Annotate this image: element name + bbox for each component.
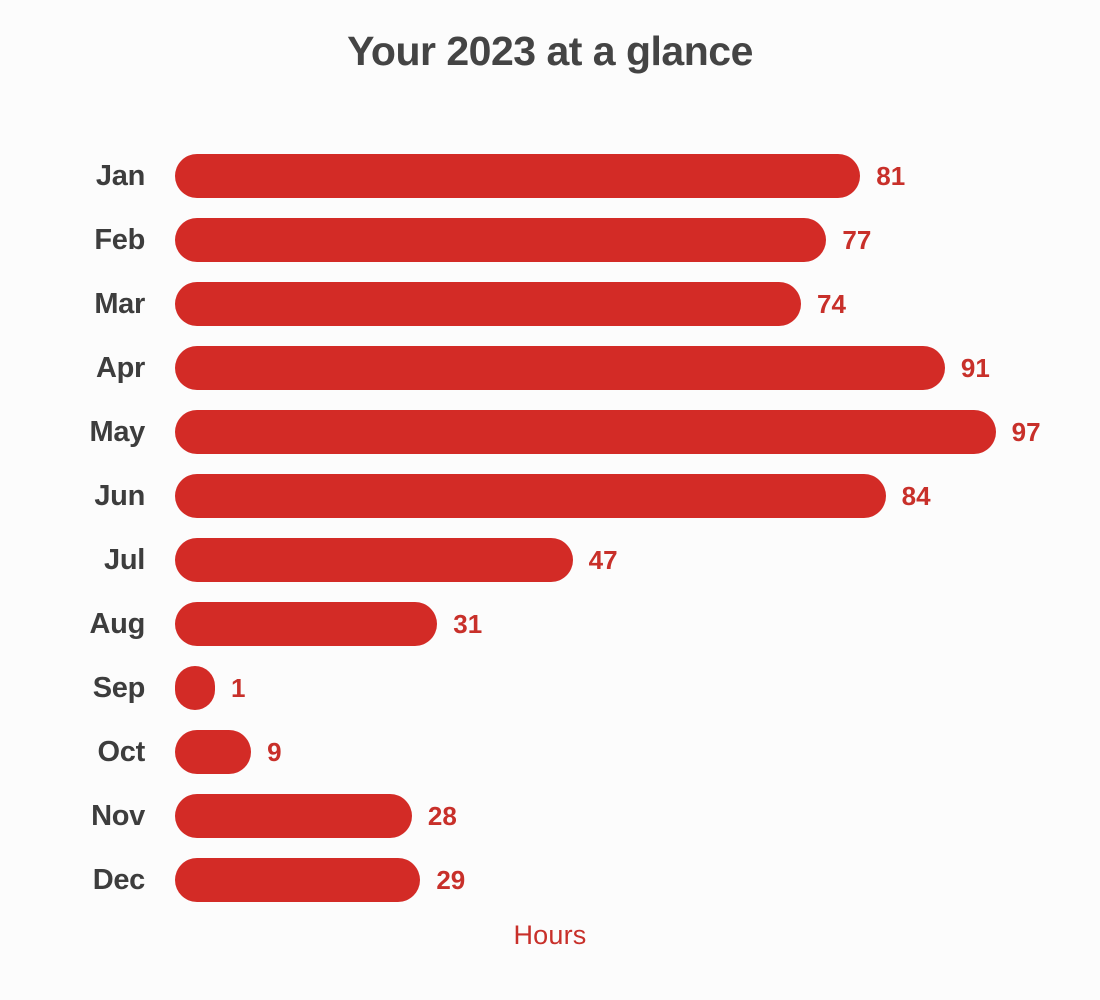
bar-category-label: May (0, 410, 145, 454)
bar-category-label: Mar (0, 282, 145, 326)
bar-value-label: 31 (453, 602, 482, 646)
bar-track: 91 (175, 346, 990, 390)
bar-value-label: 74 (817, 282, 846, 326)
bar[interactable] (175, 346, 945, 390)
bar-value-label: 84 (902, 474, 931, 518)
bar-track: 1 (175, 666, 245, 710)
bar-track: 47 (175, 538, 618, 582)
bar-row: Nov28 (0, 794, 1100, 838)
bar-category-label: Feb (0, 218, 145, 262)
bar-row: Jun84 (0, 474, 1100, 518)
bar-row: Jul47 (0, 538, 1100, 582)
bar-track: 97 (175, 410, 1041, 454)
bar-row: Apr91 (0, 346, 1100, 390)
bar-value-label: 9 (267, 730, 281, 774)
bar-value-label: 81 (876, 154, 905, 198)
bar[interactable] (175, 218, 826, 262)
bar-category-label: Dec (0, 858, 145, 902)
bar-track: 77 (175, 218, 871, 262)
bar[interactable] (175, 474, 886, 518)
bar[interactable] (175, 410, 996, 454)
bar[interactable] (175, 602, 437, 646)
bar[interactable] (175, 858, 420, 902)
bar-track: 28 (175, 794, 457, 838)
bar-chart-plot-area: Jan81Feb77Mar74Apr91May97Jun84Jul47Aug31… (0, 140, 1100, 910)
bar-track: 31 (175, 602, 482, 646)
x-axis-label: Hours (0, 920, 1100, 951)
bar-row: May97 (0, 410, 1100, 454)
bar-row: Aug31 (0, 602, 1100, 646)
bar-row: Feb77 (0, 218, 1100, 262)
bar-track: 81 (175, 154, 905, 198)
bar-value-label: 91 (961, 346, 990, 390)
bar[interactable] (175, 538, 573, 582)
bar[interactable] (175, 666, 215, 710)
bar-category-label: Aug (0, 602, 145, 646)
bar-row: Dec29 (0, 858, 1100, 902)
bar[interactable] (175, 794, 412, 838)
bar-row: Oct9 (0, 730, 1100, 774)
bar-value-label: 29 (436, 858, 465, 902)
bar-value-label: 97 (1012, 410, 1041, 454)
bar-row: Jan81 (0, 154, 1100, 198)
bar[interactable] (175, 282, 801, 326)
bar-category-label: Jul (0, 538, 145, 582)
bar-row: Mar74 (0, 282, 1100, 326)
page-title: Your 2023 at a glance (0, 28, 1100, 75)
bar-category-label: Nov (0, 794, 145, 838)
bar-category-label: Apr (0, 346, 145, 390)
bar-value-label: 77 (842, 218, 871, 262)
bar-track: 74 (175, 282, 846, 326)
bar-row: Sep1 (0, 666, 1100, 710)
bar-track: 29 (175, 858, 465, 902)
bar-category-label: Oct (0, 730, 145, 774)
bar-track: 9 (175, 730, 282, 774)
chart-page: Your 2023 at a glance Jan81Feb77Mar74Apr… (0, 0, 1100, 1000)
bar-category-label: Sep (0, 666, 145, 710)
bar-value-label: 1 (231, 666, 245, 710)
bar[interactable] (175, 154, 860, 198)
bar[interactable] (175, 730, 251, 774)
bar-category-label: Jun (0, 474, 145, 518)
bar-value-label: 28 (428, 794, 457, 838)
bar-track: 84 (175, 474, 931, 518)
bar-category-label: Jan (0, 154, 145, 198)
bar-value-label: 47 (589, 538, 618, 582)
